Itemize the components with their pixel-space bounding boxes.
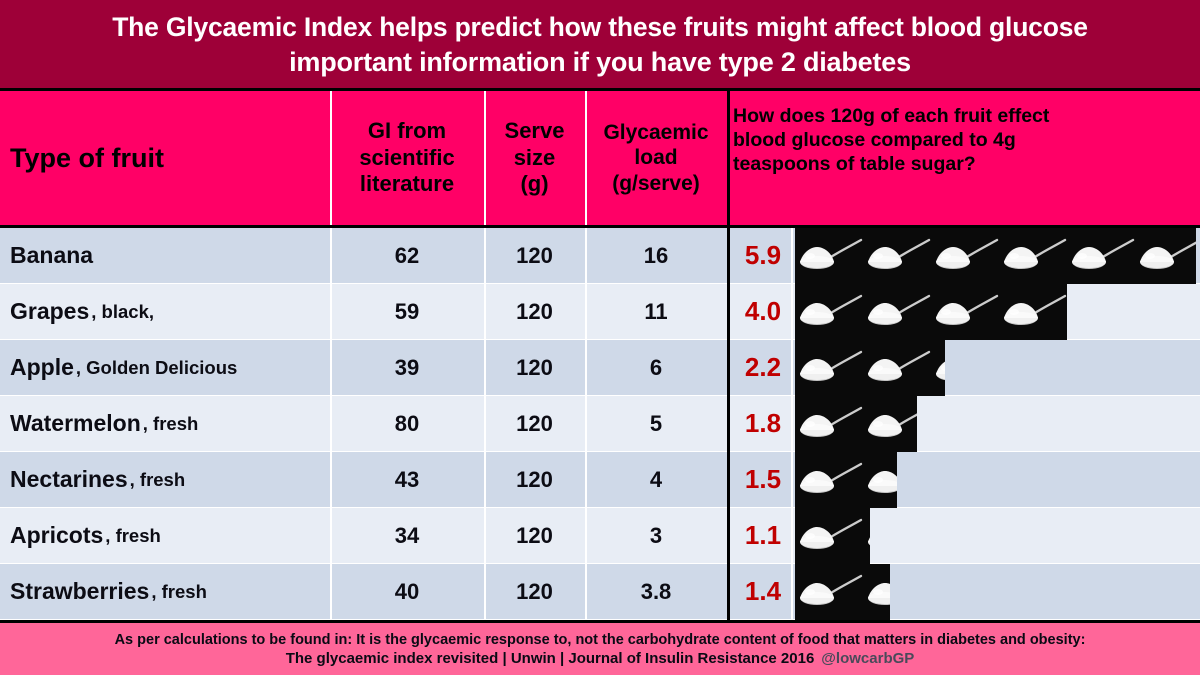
sugar-spoon-bar	[795, 452, 897, 508]
gl-header-line-1: Glycaemic	[603, 121, 708, 144]
cell-glycaemic-load: 4	[587, 452, 725, 507]
fruit-qualifier: , Golden Delicious	[76, 357, 237, 379]
sugar-spoon-bar	[795, 284, 1067, 340]
serve-header-line-3: (g)	[520, 171, 548, 196]
cell-gi: 43	[332, 452, 482, 507]
fruit-name: Nectarines	[10, 466, 128, 493]
title-line-2: important information if you have type 2…	[289, 45, 911, 80]
fruit-name: Apricots	[10, 522, 103, 549]
sugar-spoon-bar	[795, 564, 890, 620]
fruit-qualifier: , fresh	[151, 581, 207, 603]
fruit-qualifier: , black,	[91, 301, 154, 323]
footer-citation-text: The glycaemic index revisited | Unwin | …	[286, 650, 815, 667]
cell-fruit-name: Grapes, black,	[10, 284, 328, 339]
footer-line-1: As per calculations to be found in: It i…	[115, 632, 1086, 648]
cell-glycaemic-load: 5	[587, 396, 725, 451]
teaspoon-of-sugar-icon	[795, 228, 863, 284]
cell-fruit-name: Banana	[10, 228, 328, 283]
teaspoon-of-sugar-icon	[795, 564, 863, 620]
cell-gi: 62	[332, 228, 482, 283]
column-header-serve-size: Serve size (g)	[486, 91, 583, 225]
cell-glycaemic-load: 3	[587, 508, 725, 563]
teaspoon-of-sugar-icon	[863, 340, 931, 396]
cell-teaspoons: 4.0	[733, 284, 793, 339]
body-divider-2	[484, 228, 486, 620]
cell-teaspoons: 5.9	[733, 228, 793, 283]
sugar-spoon-bar	[795, 396, 917, 452]
cell-fruit-name: Watermelon, fresh	[10, 396, 328, 451]
cell-glycaemic-load: 3.8	[587, 564, 725, 619]
cell-serve-size: 120	[486, 564, 583, 619]
column-header-gi: GI from scientific literature	[332, 91, 482, 225]
cell-serve-size: 120	[486, 396, 583, 451]
teaspoon-of-sugar-icon	[863, 508, 870, 564]
fruit-qualifier: , fresh	[130, 469, 186, 491]
title-line-1: The Glycaemic Index helps predict how th…	[112, 11, 1088, 45]
table-row: Nectarines, fresh4312041.5	[0, 452, 1200, 508]
cell-teaspoons: 1.5	[733, 452, 793, 507]
table-row: Banana62120165.9	[0, 228, 1200, 284]
teaspoon-of-sugar-icon	[863, 564, 890, 620]
table-header-row: Type of fruit GI from scientific literat…	[0, 91, 1200, 228]
gi-header-line-3: literature	[360, 171, 454, 196]
table-body: Banana62120165.9Grapes, black,59120114.0…	[0, 228, 1200, 620]
teaspoon-of-sugar-icon	[795, 396, 863, 452]
cell-gi: 39	[332, 340, 482, 395]
teaspoon-of-sugar-icon	[999, 228, 1067, 284]
fruit-name: Grapes	[10, 298, 89, 325]
fruit-qualifier: , fresh	[105, 525, 161, 547]
gi-header-line-1: GI from	[368, 118, 446, 143]
teaspoon-of-sugar-icon	[863, 452, 897, 508]
teaspoon-of-sugar-icon	[863, 228, 931, 284]
teaspoon-of-sugar-icon	[931, 284, 999, 340]
fruit-name: Strawberries	[10, 578, 149, 605]
teaspoon-of-sugar-icon	[1135, 228, 1196, 284]
compare-header-line-3: teaspoons of table sugar?	[733, 153, 1049, 177]
cell-serve-size: 120	[486, 228, 583, 283]
table-row: Apple, Golden Delicious3912062.2	[0, 340, 1200, 396]
cell-serve-size: 120	[486, 284, 583, 339]
twitter-handle[interactable]: @lowcarbGP	[821, 650, 914, 667]
table-row: Strawberries, fresh401203.81.4	[0, 564, 1200, 620]
footer-line-2: The glycaemic index revisited | Unwin | …	[286, 650, 915, 667]
body-divider-1	[330, 228, 332, 620]
teaspoon-of-sugar-icon	[931, 228, 999, 284]
fruit-name: Banana	[10, 242, 93, 269]
teaspoon-of-sugar-icon	[931, 340, 945, 396]
table-row: Grapes, black,59120114.0	[0, 284, 1200, 340]
teaspoon-of-sugar-icon	[795, 284, 863, 340]
teaspoon-of-sugar-icon	[795, 452, 863, 508]
cell-gi: 34	[332, 508, 482, 563]
cell-teaspoons: 1.4	[733, 564, 793, 619]
teaspoon-of-sugar-icon	[795, 340, 863, 396]
compare-header-line-2: blood glucose compared to 4g	[733, 129, 1049, 153]
teaspoon-of-sugar-icon	[863, 284, 931, 340]
table-row: Apricots, fresh3412031.1	[0, 508, 1200, 564]
cell-gi: 59	[332, 284, 482, 339]
gl-header-line-3: (g/serve)	[612, 172, 700, 195]
teaspoon-of-sugar-icon	[795, 508, 863, 564]
column-header-fruit: Type of fruit	[10, 91, 328, 225]
sugar-spoon-bar	[795, 228, 1196, 284]
sugar-spoon-bar	[795, 340, 945, 396]
cell-gi: 80	[332, 396, 482, 451]
body-divider-4	[727, 228, 730, 620]
cell-teaspoons: 2.2	[733, 340, 793, 395]
cell-serve-size: 120	[486, 452, 583, 507]
serve-header-line-2: size	[514, 145, 556, 170]
cell-serve-size: 120	[486, 340, 583, 395]
gi-header-line-2: scientific	[359, 145, 454, 170]
gl-header-line-2: load	[634, 146, 677, 169]
column-header-glycaemic-load: Glycaemic load (g/serve)	[587, 91, 725, 225]
cell-glycaemic-load: 16	[587, 228, 725, 283]
cell-gi: 40	[332, 564, 482, 619]
fruit-name: Watermelon	[10, 410, 141, 437]
fruit-name: Apple	[10, 354, 74, 381]
cell-glycaemic-load: 11	[587, 284, 725, 339]
header-divider-4	[727, 91, 730, 225]
infographic-page: The Glycaemic Index helps predict how th…	[0, 0, 1200, 675]
cell-teaspoons: 1.1	[733, 508, 793, 563]
table-row: Watermelon, fresh8012051.8	[0, 396, 1200, 452]
glycaemic-index-table: Type of fruit GI from scientific literat…	[0, 88, 1200, 620]
cell-teaspoons: 1.8	[733, 396, 793, 451]
footer-citation: As per calculations to be found in: It i…	[0, 620, 1200, 675]
compare-header-line-1: How does 120g of each fruit effect	[733, 105, 1049, 129]
title-banner: The Glycaemic Index helps predict how th…	[0, 0, 1200, 88]
body-divider-3	[585, 228, 587, 620]
teaspoon-of-sugar-icon	[863, 396, 917, 452]
sugar-spoon-bar	[795, 508, 870, 564]
body-divider-5	[791, 228, 793, 620]
cell-serve-size: 120	[486, 508, 583, 563]
serve-header-line-1: Serve	[505, 118, 565, 143]
column-header-comparison: How does 120g of each fruit effect blood…	[733, 91, 1195, 225]
teaspoon-of-sugar-icon	[999, 284, 1067, 340]
cell-fruit-name: Nectarines, fresh	[10, 452, 328, 507]
cell-fruit-name: Strawberries, fresh	[10, 564, 328, 619]
teaspoon-of-sugar-icon	[1067, 228, 1135, 284]
cell-fruit-name: Apple, Golden Delicious	[10, 340, 328, 395]
cell-glycaemic-load: 6	[587, 340, 725, 395]
cell-fruit-name: Apricots, fresh	[10, 508, 328, 563]
fruit-qualifier: , fresh	[143, 413, 199, 435]
